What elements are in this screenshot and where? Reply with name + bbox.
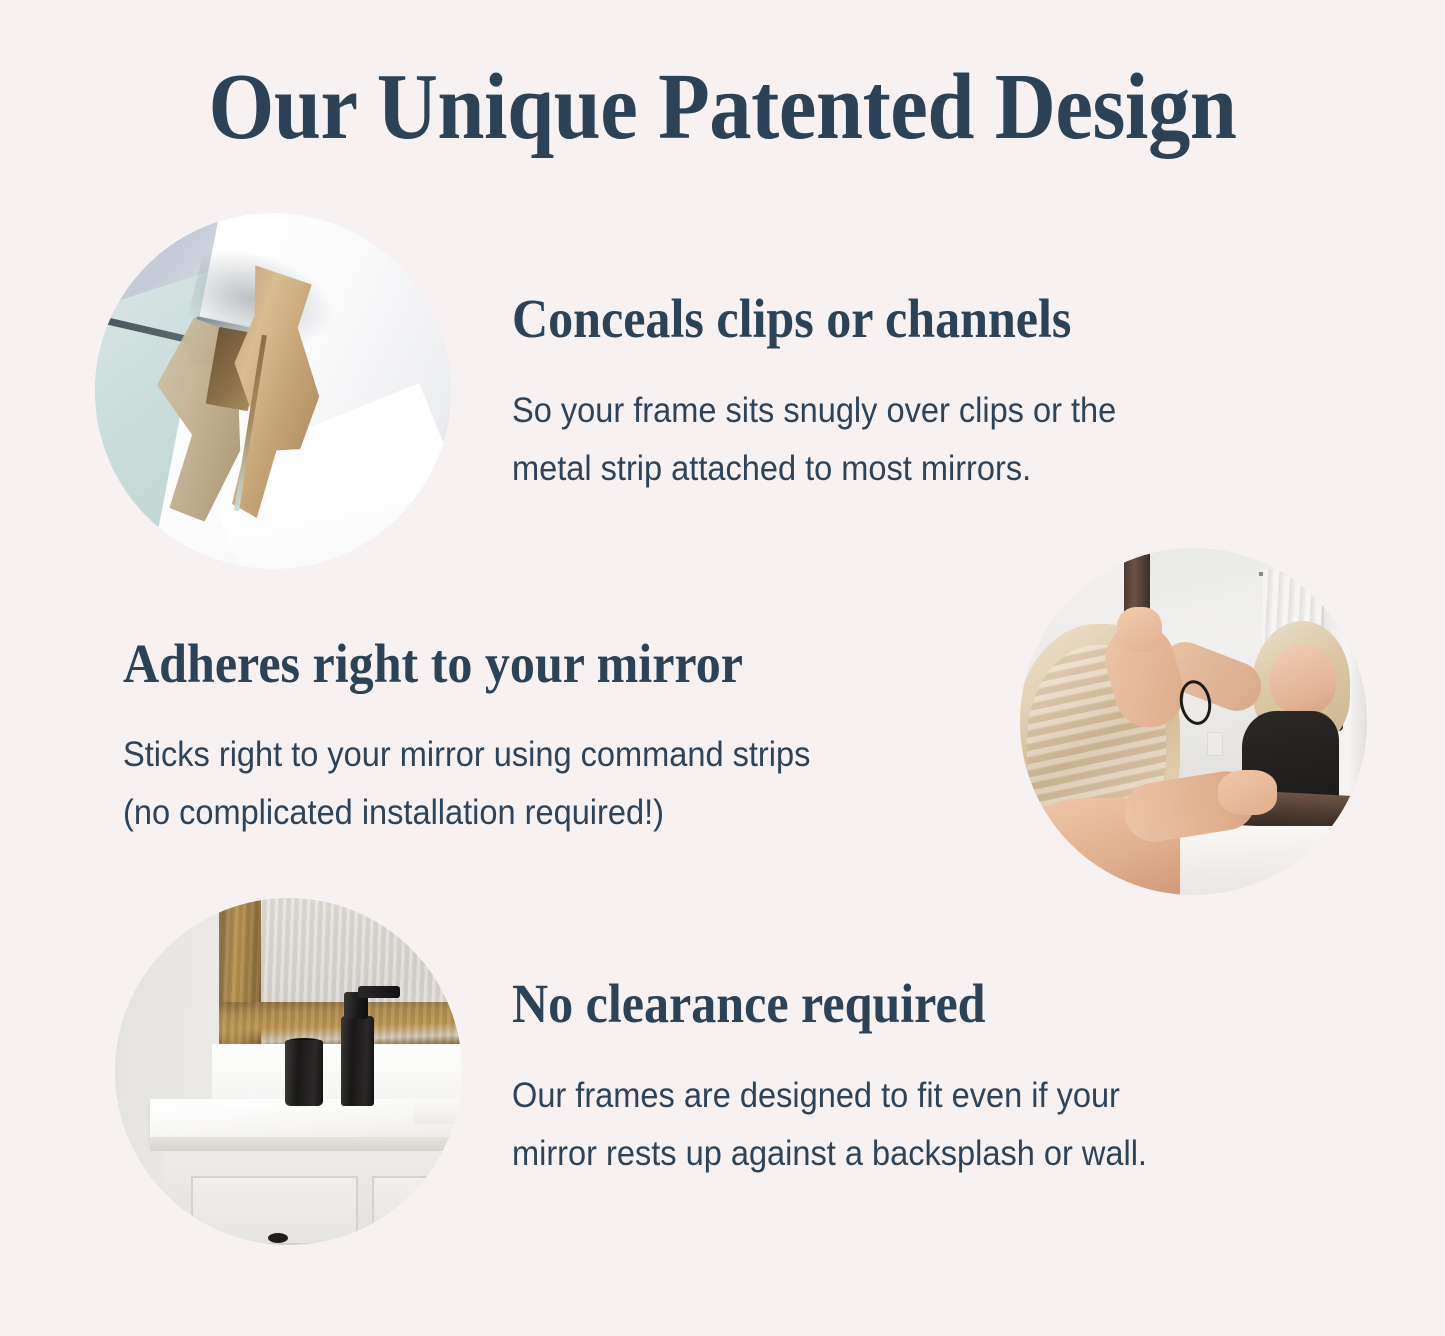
photo3-countertop-edge (150, 1137, 462, 1151)
feature-body-line2-conceals-clips: metal strip attached to most mirrors. (512, 444, 1031, 494)
photo3-cabinet-drawer-2 (372, 1176, 462, 1245)
feature-body-line1-adheres-to-mirror: Sticks right to your mirror using comman… (123, 730, 810, 780)
photo3-soap-tray (413, 1099, 462, 1123)
feature-heading-conceals-clips: Conceals clips or channels (512, 288, 1071, 350)
patented-design-infographic: Our Unique Patented Design Conceals clip… (0, 0, 1445, 1336)
feature-body-line2-no-clearance: mirror rests up against a backsplash or … (512, 1129, 1147, 1179)
photo3-drawer-pull (268, 1233, 288, 1243)
photo2-woman-lower-hand (1218, 770, 1277, 815)
wood-framed-mirror-on-vanity-photo (115, 898, 462, 1245)
photo3-dispenser-spout (358, 986, 400, 997)
feature-body-line1-conceals-clips: So your frame sits snugly over clips or … (512, 386, 1116, 436)
feature-heading-adheres-to-mirror: Adheres right to your mirror (123, 633, 743, 695)
feature-heading-no-clearance: No clearance required (512, 973, 986, 1035)
page-title: Our Unique Patented Design (72, 58, 1373, 157)
photo3-black-cup (285, 1040, 323, 1106)
photo2-wall-outlet (1207, 732, 1223, 756)
feature-body-line1-no-clearance: Our frames are designed to fit even if y… (512, 1071, 1120, 1121)
photo3-soap-dispenser (341, 1016, 374, 1106)
photo2-woman-raised-hand (1117, 607, 1162, 652)
frame-profile-over-mirror-clip-photo (95, 213, 451, 569)
photo2-reflected-face (1270, 645, 1336, 714)
woman-installing-mirror-frame-photo (1020, 548, 1367, 895)
feature-body-line2-adheres-to-mirror: (no complicated installation required!) (123, 788, 664, 838)
